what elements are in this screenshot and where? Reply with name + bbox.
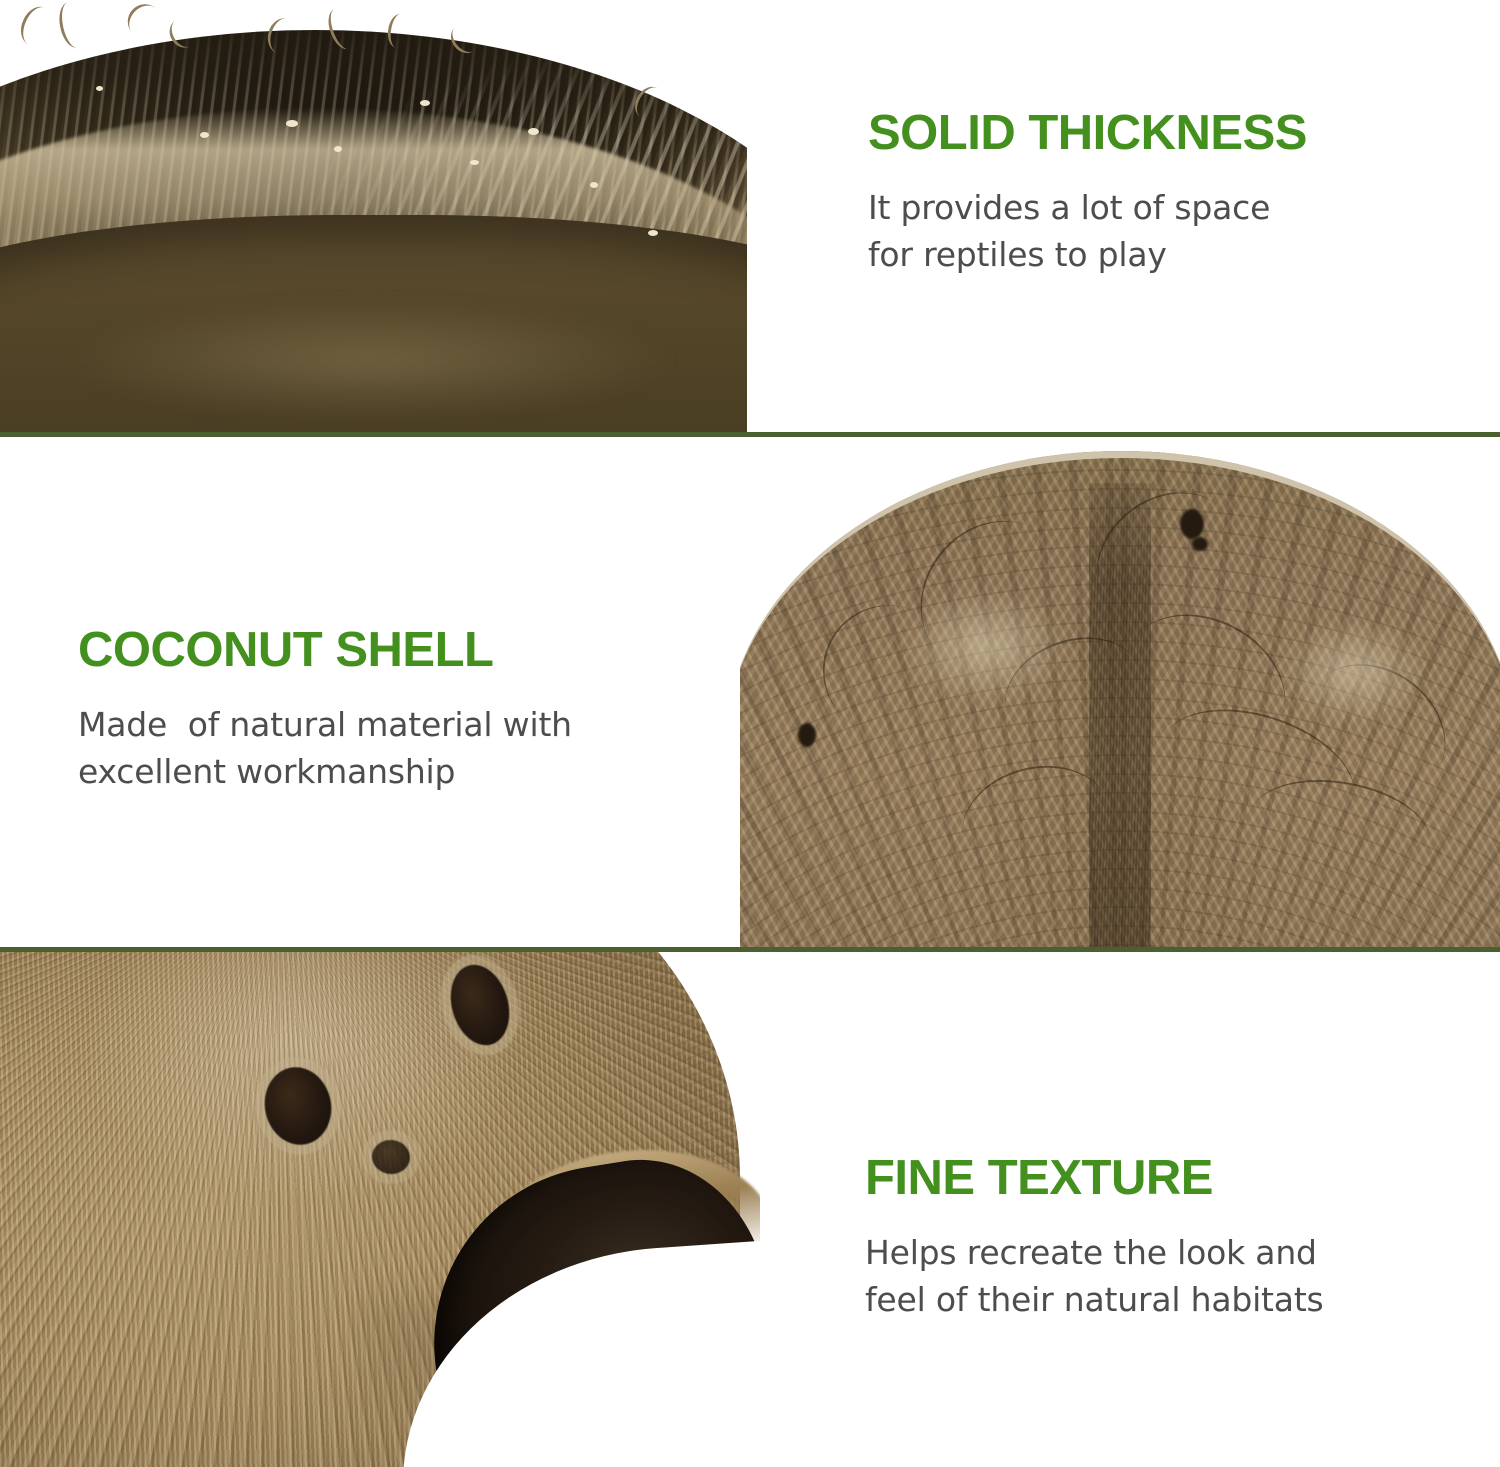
shell-speck: [590, 182, 598, 188]
feature-row-solid-thickness: SOLID THICKNESS It provides a lot of spa…: [0, 0, 1500, 437]
feature-heading: SOLID THICKNESS: [868, 108, 1468, 159]
shell-speck: [648, 230, 658, 236]
feature-row-fine-texture: FINE TEXTURE Helps recreate the look and…: [0, 952, 1500, 1467]
shell-dark-spot: [1192, 537, 1208, 551]
coir-hair-icon: [121, 0, 168, 45]
shell-speck: [96, 86, 103, 91]
feature-text-solid-thickness: SOLID THICKNESS It provides a lot of spa…: [868, 108, 1468, 279]
feature-row-coconut-shell: COCONUT SHELL Made of natural material w…: [0, 437, 1500, 952]
shell-speck: [420, 100, 430, 106]
shell-speck: [334, 146, 342, 152]
feature-body-line-1: Made of natural material with: [78, 702, 678, 749]
feature-body-line-2: excellent workmanship: [78, 749, 678, 796]
feature-body-line-2: feel of their natural habitats: [865, 1277, 1465, 1324]
shell-dark-spot: [798, 723, 816, 747]
shell-speck: [528, 128, 539, 135]
feature-text-coconut-shell: COCONUT SHELL Made of natural material w…: [78, 625, 678, 796]
shell-speck: [470, 160, 479, 165]
shell-dark-spot: [1180, 509, 1204, 539]
shell-lower-sheen: [60, 300, 680, 420]
image-coconut-shell-interior: [740, 437, 1500, 952]
image-coconut-husk-exterior: [0, 952, 760, 1467]
shell-speck: [286, 120, 298, 127]
image-coconut-shell-edge-cross-section: [0, 0, 747, 435]
feature-heading: COCONUT SHELL: [78, 625, 678, 676]
coir-hair-icon: [55, 0, 89, 50]
feature-heading: FINE TEXTURE: [865, 1153, 1465, 1204]
shell-light-patch: [900, 587, 1070, 707]
feature-body-line-1: It provides a lot of space: [868, 185, 1468, 232]
feature-body-line-2: for reptiles to play: [868, 232, 1468, 279]
coir-hair-icon: [15, 2, 58, 50]
feature-text-fine-texture: FINE TEXTURE Helps recreate the look and…: [865, 1153, 1465, 1324]
shell-speck: [200, 132, 209, 138]
feature-body-line-1: Helps recreate the look and: [865, 1230, 1465, 1277]
shell-light-patch: [1280, 617, 1430, 727]
infographic-board: SOLID THICKNESS It provides a lot of spa…: [0, 0, 1500, 1467]
